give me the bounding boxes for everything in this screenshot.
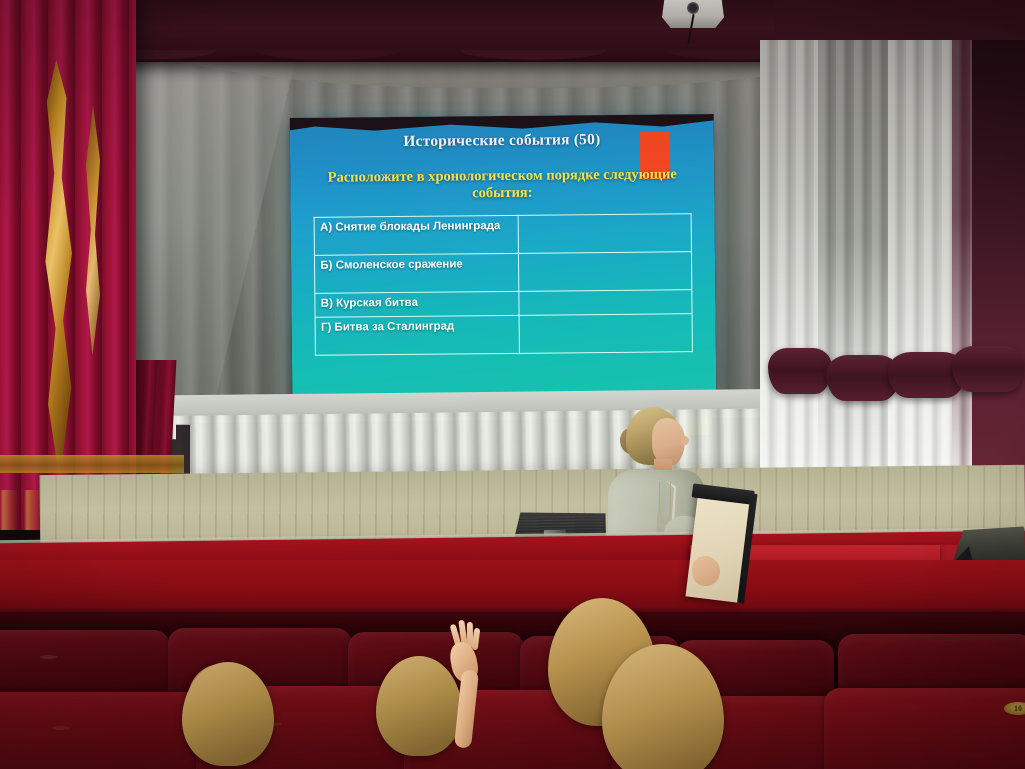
seat-wear-mark xyxy=(52,726,70,730)
table-cell-question: Б) Смоленское сражение xyxy=(315,253,519,293)
table-cell-question: Г) Битва за Сталинград xyxy=(315,315,519,355)
drape-far-right xyxy=(972,40,1025,520)
gold-ornament-secondary xyxy=(86,105,100,355)
auditorium-photo: Исторические события (50) Расположите в … xyxy=(0,0,1025,769)
seat-wear-mark xyxy=(40,655,58,659)
table-cell-answer[interactable] xyxy=(518,252,691,292)
drape-panel xyxy=(888,40,958,480)
drape-panel xyxy=(760,40,824,480)
projection-screen: Исторические события (50) Расположите в … xyxy=(290,114,717,401)
auditorium-seat[interactable] xyxy=(0,692,214,769)
projector-lens-icon xyxy=(687,2,699,14)
curtain-gold-band xyxy=(0,455,184,473)
table-row: А) Снятие блокады Ленинграда xyxy=(314,214,691,256)
audience-back-wall xyxy=(0,560,1025,615)
auditorium-seat[interactable] xyxy=(0,630,170,696)
presenter-hand xyxy=(692,556,720,586)
table-row: Б) Смоленское сражение xyxy=(315,252,692,294)
gold-ornament xyxy=(42,60,76,480)
table-cell-question: А) Снятие блокады Ленинграда xyxy=(314,215,518,255)
presenter-nose xyxy=(681,436,689,445)
table-cell-answer[interactable] xyxy=(518,290,691,316)
drape-sash xyxy=(768,348,832,394)
drape-sash xyxy=(952,346,1025,392)
drape-panel xyxy=(818,40,890,480)
slide-prompt: Расположите в хронологическом порядке сл… xyxy=(307,166,697,203)
finger xyxy=(472,628,481,651)
chronology-table: А) Снятие блокады Ленинграда Б) Смоленск… xyxy=(314,213,693,356)
forearm xyxy=(454,669,479,748)
table-cell-answer[interactable] xyxy=(519,314,692,354)
auditorium-seat[interactable]: 10 xyxy=(824,688,1025,769)
table-cell-answer[interactable] xyxy=(518,214,691,254)
table-row: В) Курская битва xyxy=(315,290,692,318)
table-cell-question: В) Курская битва xyxy=(315,291,518,317)
presentation-slide: Исторические события (50) Расположите в … xyxy=(290,114,717,401)
seat-number-plate: 10 xyxy=(1004,702,1025,715)
raised-hand xyxy=(446,624,488,744)
table-row: Г) Битва за Сталинград xyxy=(315,314,692,356)
presenter-necklace xyxy=(659,482,671,524)
left-crimson-curtain xyxy=(0,0,136,530)
